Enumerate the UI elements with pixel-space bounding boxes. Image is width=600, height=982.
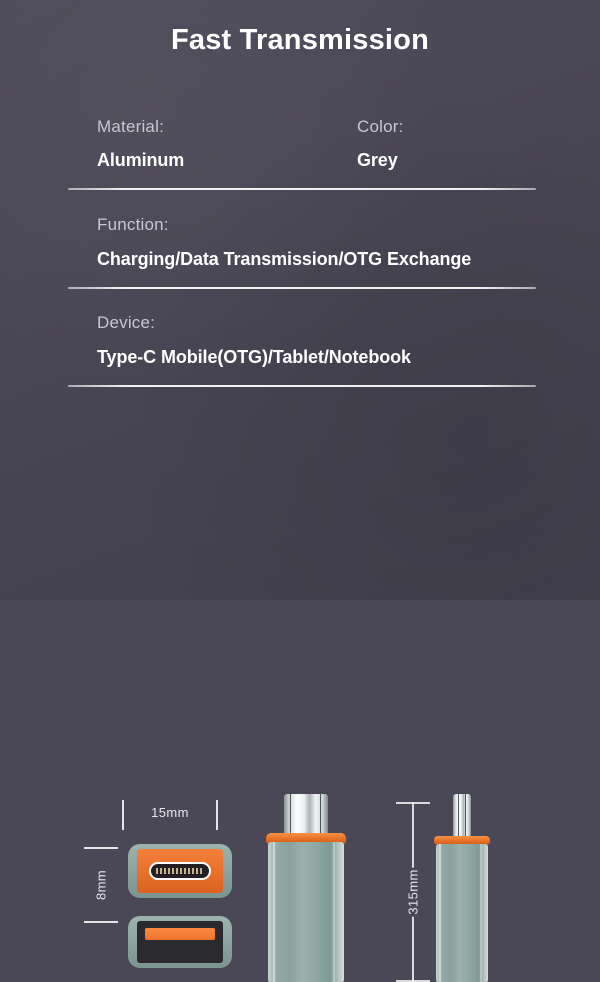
product-diagram: 15mm 8mm 315mm (0, 392, 600, 600)
dimension-length: 315mm (396, 802, 430, 982)
dimension-length-label: 315mm (403, 867, 424, 916)
dimension-height-cap-bottom (84, 921, 118, 923)
adapter-edge-left-side (439, 844, 441, 982)
adapter-front-view (268, 842, 344, 982)
adapter-side-view (436, 844, 488, 982)
divider-1 (68, 188, 536, 190)
spec-label-color: Color: (357, 117, 404, 137)
usb-a-port-icon (128, 916, 232, 968)
divider-3 (68, 385, 536, 387)
spec-value-device: Type-C Mobile(OTG)/Tablet/Notebook (97, 347, 411, 368)
plug-edge-line-side-right (465, 794, 466, 840)
dimension-width: 15mm (122, 800, 218, 830)
spec-value-function: Charging/Data Transmission/OTG Exchange (97, 249, 471, 270)
plug-edge-line-side-left (458, 794, 459, 840)
adapter-edge-right-front (333, 842, 335, 982)
usb-c-plug-front (284, 794, 328, 838)
spec-label-material: Material: (97, 117, 164, 137)
adapter-edge-right-side (480, 844, 482, 982)
dimension-height-cap-top (84, 847, 118, 849)
spec-value-material: Aluminum (97, 150, 184, 171)
usb-c-port-face (137, 849, 223, 893)
adapter-edge-left-front (273, 842, 275, 982)
usb-a-port-cavity (137, 921, 223, 963)
plug-edge-line-right (320, 794, 321, 838)
dimension-width-label: 15mm (122, 805, 218, 820)
spec-value-color: Grey (357, 150, 398, 171)
usb-c-port-icon (128, 844, 232, 898)
spec-label-function: Function: (97, 215, 169, 235)
dimension-height: 8mm (84, 847, 118, 923)
usb-a-port-tongue (145, 928, 215, 940)
page-title: Fast Transmission (0, 24, 600, 57)
plug-edge-line-left (290, 794, 291, 838)
usb-c-port-pins (156, 868, 204, 874)
usb-c-port-slot (149, 862, 211, 880)
dimension-height-label: 8mm (94, 870, 109, 900)
product-spec-page: Fast Transmission Material: Aluminum Col… (0, 0, 600, 600)
dimension-length-cap-top (396, 802, 430, 804)
divider-2 (68, 287, 536, 289)
usb-c-plug-side (453, 794, 471, 840)
spec-label-device: Device: (97, 313, 155, 333)
